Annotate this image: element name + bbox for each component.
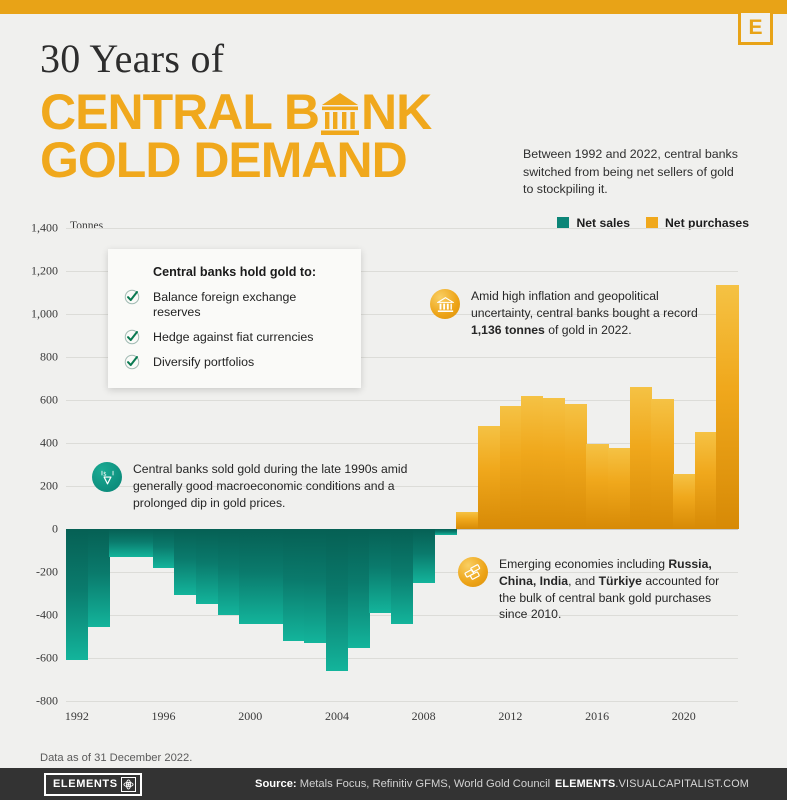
y-axis-tick-label: 600 — [40, 393, 58, 408]
annotation-1990s-sales: $ Central banks sold gold during the lat… — [92, 461, 422, 511]
chart-bar — [348, 529, 370, 648]
y-axis-tick-label: -800 — [36, 694, 58, 709]
headline-line-1: 30 Years of — [40, 38, 431, 80]
annotation-1990s-sales-text: Central banks sold gold during the late … — [133, 461, 422, 511]
chart-bar — [304, 529, 326, 643]
footer-url-bold: ELEMENTS — [555, 778, 615, 790]
info-card-list-item-label: Hedge against fiat currencies — [153, 330, 313, 344]
check-circle-icon — [124, 289, 140, 305]
chart-bar — [435, 529, 457, 535]
annotation-2022-record: Amid high inflation and geopolitical unc… — [430, 288, 720, 338]
elements-footer-logo[interactable]: ELEMENTS — [44, 773, 142, 796]
subtitle-text: Between 1992 and 2022, central banks swi… — [523, 146, 738, 199]
chart-bar — [66, 529, 88, 660]
headline-line-3: GOLD DEMAND — [40, 136, 431, 184]
y-axis-tick-label: 400 — [40, 436, 58, 451]
annotation-text-span: Emerging economies including — [499, 557, 668, 571]
annotation-emerging-economies-text: Emerging economies including Russia, Chi… — [499, 556, 723, 623]
footer-source-label: Source: — [255, 778, 297, 790]
bank-building-icon — [320, 91, 360, 135]
x-axis-tick-label: 2012 — [498, 709, 522, 724]
info-card-list: Balance foreign exchange reservesHedge a… — [124, 290, 343, 370]
headline-block: 30 Years of CENTRAL BNK GOLD DEMAND — [40, 38, 431, 184]
annotation-text-span: of gold in 2022. — [545, 323, 632, 337]
gridline — [66, 701, 738, 702]
elements-logo-letter: E — [748, 17, 762, 38]
info-card-list-item-label: Balance foreign exchange reserves — [153, 290, 296, 319]
annotation-text-span: Türkiye — [599, 574, 642, 588]
info-card-list-item-label: Diversify portfolios — [153, 355, 254, 369]
chart-bar — [88, 529, 110, 627]
x-axis-tick-label: 2020 — [672, 709, 696, 724]
atom-icon — [121, 777, 136, 792]
x-axis-tick-label: 1992 — [65, 709, 89, 724]
money-down-arrow-icon: $ — [92, 462, 122, 492]
chart-bar — [109, 529, 131, 557]
chart-bar — [153, 529, 175, 568]
elements-footer-logo-word: ELEMENTS — [50, 778, 121, 790]
x-axis-tick-label: 2004 — [325, 709, 349, 724]
chart-bar — [673, 474, 695, 529]
info-card-central-banks-hold-gold: Central banks hold gold to: Balance fore… — [108, 249, 361, 388]
chart-bar — [586, 444, 608, 529]
y-axis-tick-label: 1,400 — [31, 221, 58, 236]
page-footer: ELEMENTS Source: Metals Focus, Refinitiv… — [0, 768, 787, 800]
footer-source-text: Metals Focus, Refinitiv GFMS, World Gold… — [297, 778, 550, 790]
chart-bar — [413, 529, 435, 583]
chart-bar — [630, 387, 652, 529]
gold-bars-icon — [458, 557, 488, 587]
footer-url-rest: .VISUALCAPITALIST.COM — [615, 778, 749, 790]
annotation-text-span: Central banks sold gold during the late … — [133, 462, 407, 510]
check-circle-icon — [124, 329, 140, 345]
annotation-text-span: , and — [568, 574, 599, 588]
x-axis-tick-label: 2016 — [585, 709, 609, 724]
x-axis-tick-label: 1996 — [152, 709, 176, 724]
chart-bar — [500, 406, 522, 529]
y-axis-tick-label: -400 — [36, 608, 58, 623]
elements-logo-badge: E — [738, 10, 773, 45]
y-axis-tick-label: 0 — [52, 522, 58, 537]
y-axis-tick-label: 800 — [40, 350, 58, 365]
chart-bar — [695, 432, 717, 529]
x-axis-tick-label: 2008 — [412, 709, 436, 724]
chart-bar — [543, 398, 565, 529]
chart-bar — [131, 529, 153, 557]
top-gold-band — [0, 0, 787, 14]
chart-bar — [283, 529, 305, 641]
chart-bar — [261, 529, 283, 624]
annotation-2022-record-text: Amid high inflation and geopolitical unc… — [471, 288, 720, 338]
annotation-text-span: 1,136 tonnes — [471, 323, 545, 337]
chart-bar — [456, 512, 478, 529]
check-circle-icon — [124, 354, 140, 370]
chart-bar — [651, 399, 673, 529]
footer-url[interactable]: ELEMENTS.VISUALCAPITALIST.COM — [555, 778, 749, 790]
chart-bar — [608, 448, 630, 529]
headline-line-2: CENTRAL BNK — [40, 88, 431, 136]
y-axis-tick-label: 1,200 — [31, 264, 58, 279]
info-card-list-item: Balance foreign exchange reserves — [124, 290, 343, 320]
info-card-list-item: Diversify portfolios — [124, 355, 343, 370]
annotation-emerging-economies: Emerging economies including Russia, Chi… — [458, 556, 723, 623]
y-axis-tick-label: -600 — [36, 651, 58, 666]
chart-bar — [174, 529, 196, 595]
x-axis-tick-label: 2000 — [238, 709, 262, 724]
info-card-list-item: Hedge against fiat currencies — [124, 330, 343, 345]
y-axis-tick-label: 200 — [40, 479, 58, 494]
footer-source: Source: Metals Focus, Refinitiv GFMS, Wo… — [255, 778, 550, 790]
chart-bar — [565, 404, 587, 529]
chart-bar — [369, 529, 391, 613]
chart-bar — [478, 426, 500, 529]
annotation-text-span: Amid high inflation and geopolitical unc… — [471, 289, 698, 320]
chart-bar — [326, 529, 348, 671]
bank-building-icon — [430, 289, 460, 319]
chart-bar — [196, 529, 218, 604]
info-card-title: Central banks hold gold to: — [153, 265, 343, 279]
y-axis-tick-label: -200 — [36, 565, 58, 580]
chart-bar — [218, 529, 240, 615]
chart-bar — [239, 529, 261, 624]
chart-bar — [391, 529, 413, 624]
data-footnote: Data as of 31 December 2022. — [40, 752, 192, 764]
y-axis-tick-label: 1,000 — [31, 307, 58, 322]
chart-bar — [521, 396, 543, 529]
